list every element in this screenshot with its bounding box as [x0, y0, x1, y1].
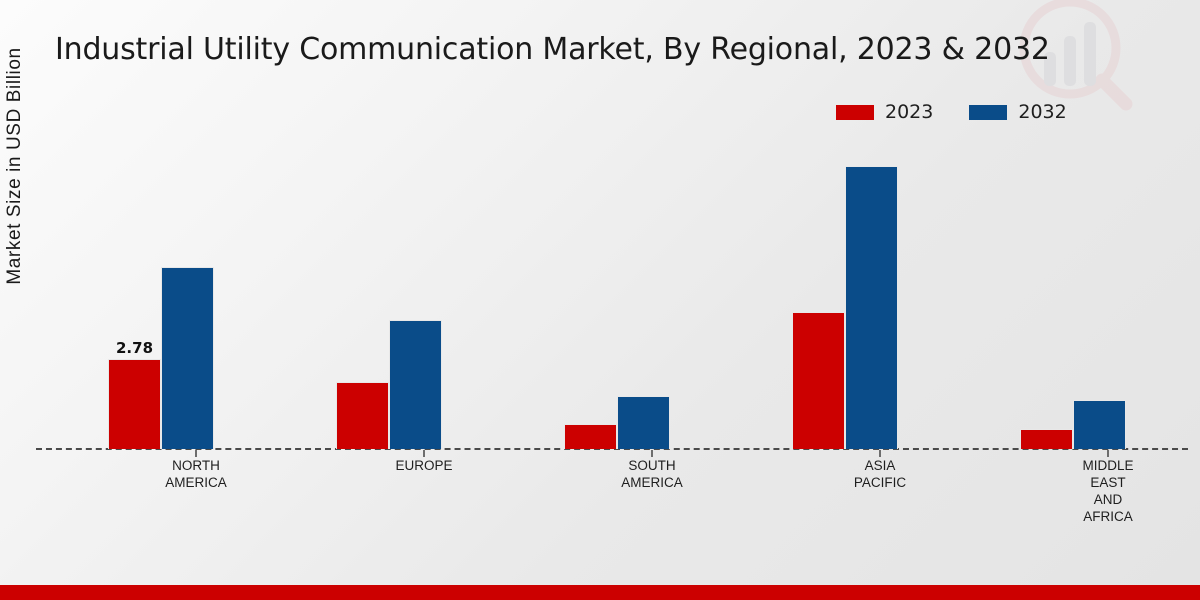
- bar-2023-middle-east-and-africa[interactable]: [1020, 429, 1073, 449]
- x-label-middle-east-and-africa: MIDDLE EAST AND AFRICA: [1082, 457, 1133, 525]
- bar-2023-europe[interactable]: [336, 382, 389, 449]
- chart-title: Industrial Utility Communication Market,…: [55, 32, 1050, 67]
- bar-group-south-america: SOUTH AMERICA: [564, 141, 740, 450]
- legend-item-2032[interactable]: 2032: [969, 103, 1066, 122]
- bar-group-middle-east-and-africa: MIDDLE EAST AND AFRICA: [1020, 141, 1196, 450]
- x-tick-middle-east-and-africa: [1107, 450, 1109, 457]
- bar-2032-middle-east-and-africa[interactable]: [1073, 400, 1126, 449]
- bar-2032-europe[interactable]: [389, 320, 442, 449]
- legend-item-2023[interactable]: 2023: [836, 103, 933, 122]
- y-axis-label: Market Size in USD Billion: [4, 1, 26, 331]
- x-label-asia-pacific: ASIA PACIFIC: [854, 457, 906, 491]
- x-tick-asia-pacific: [879, 450, 881, 457]
- legend-swatch-2032: [969, 105, 1007, 120]
- bar-value-2023-north-america: 2.78: [116, 339, 153, 357]
- bar-2032-asia-pacific[interactable]: [845, 166, 898, 449]
- bar-2023-south-america[interactable]: [564, 424, 617, 449]
- bar-group-europe: EUROPE: [336, 141, 512, 450]
- x-tick-europe: [423, 450, 425, 457]
- plot-area: 2.78 NORTH AMERICA EUROPE SOUTH AMERICA: [36, 140, 1188, 450]
- bar-2023-north-america[interactable]: 2.78: [108, 359, 161, 449]
- x-label-europe: EUROPE: [395, 457, 452, 474]
- legend-swatch-2023: [836, 105, 874, 120]
- legend-label-2032: 2032: [1018, 103, 1066, 122]
- footer-accent-bar: [0, 585, 1200, 600]
- x-label-north-america: NORTH AMERICA: [165, 457, 227, 491]
- chart-figure: Industrial Utility Communication Market,…: [0, 0, 1200, 600]
- x-label-south-america: SOUTH AMERICA: [621, 457, 683, 491]
- bar-2032-north-america[interactable]: [161, 267, 214, 449]
- bar-2032-south-america[interactable]: [617, 396, 670, 449]
- x-tick-south-america: [651, 450, 653, 457]
- bar-group-north-america: 2.78 NORTH AMERICA: [108, 141, 284, 450]
- bar-2023-asia-pacific[interactable]: [792, 312, 845, 449]
- x-tick-north-america: [195, 450, 197, 457]
- legend-label-2023: 2023: [885, 103, 933, 122]
- bar-group-asia-pacific: ASIA PACIFIC: [792, 141, 968, 450]
- chart-legend: 2023 2032: [836, 103, 1067, 122]
